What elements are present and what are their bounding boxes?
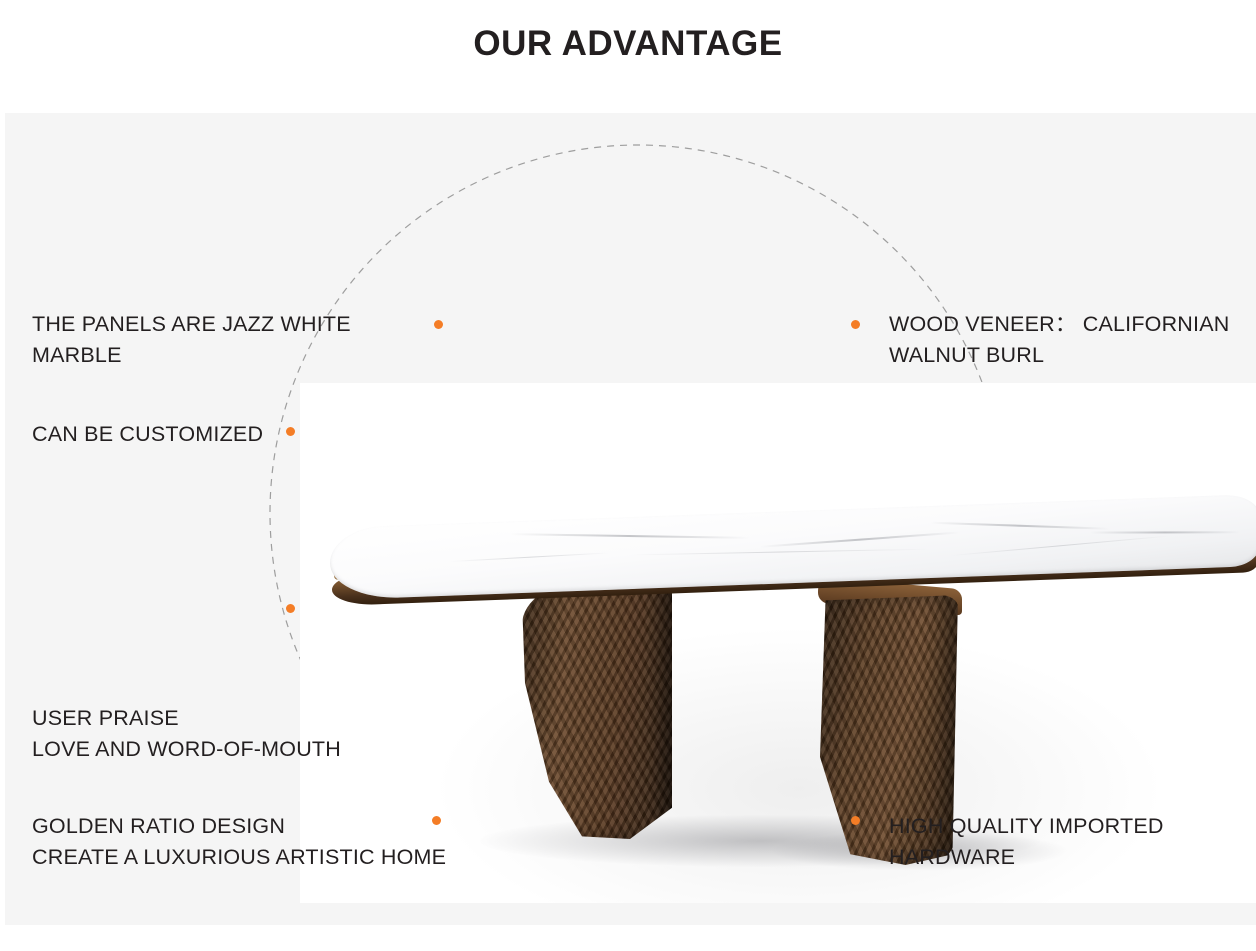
marker-dot-golden-ratio-design [432,816,441,825]
page-header: OUR ADVANTAGE [0,0,1256,113]
marble-vein [1090,531,1240,533]
marble-vein [930,522,1110,530]
feature-label-imported-hardware: HIGH QUALITY IMPORTED HARDWARE [889,811,1164,873]
feature-label-can-be-customized: CAN BE CUSTOMIZED [32,419,263,450]
marble-vein [760,531,960,547]
feature-line: CAN BE CUSTOMIZED [32,419,263,450]
marker-dot-can-be-customized [286,427,295,436]
feature-line: MARBLE [32,340,351,371]
feature-line: CREATE A LUXURIOUS ARTISTIC HOME [32,842,446,873]
marker-dot-wood-veneer [851,320,860,329]
marble-vein [510,533,750,539]
marble-vein [450,552,610,562]
marker-dot-user-praise [286,604,295,613]
feature-line: THE PANELS ARE JAZZ WHITE [32,309,351,340]
feature-label-wood-veneer: WOOD VENEER： CALIFORNIAN WALNUT BURL [889,309,1229,371]
feature-line: GOLDEN RATIO DESIGN [32,811,446,842]
feature-line: HIGH QUALITY IMPORTED [889,811,1164,842]
marker-dot-jazz-white-marble [434,320,443,329]
feature-label-golden-ratio-design: GOLDEN RATIO DESIGN CREATE A LUXURIOUS A… [32,811,446,873]
feature-line: USER PRAISE [32,703,341,734]
feature-line: LOVE AND WORD-OF-MOUTH [32,734,341,765]
feature-label-jazz-white-marble: THE PANELS ARE JAZZ WHITE MARBLE [32,309,351,371]
feature-line: HARDWARE [889,842,1164,873]
feature-label-user-praise: USER PRAISE LOVE AND WORD-OF-MOUTH [32,703,341,765]
marble-vein [950,535,1170,556]
advantage-panel: THE PANELS ARE JAZZ WHITE MARBLE WOOD VE… [5,113,1256,925]
feature-line: WOOD VENEER： CALIFORNIAN [889,309,1229,340]
marker-dot-imported-hardware [851,816,860,825]
feature-line: WALNUT BURL [889,340,1229,371]
page-title: OUR ADVANTAGE [0,22,1256,66]
marble-vein [630,549,930,556]
